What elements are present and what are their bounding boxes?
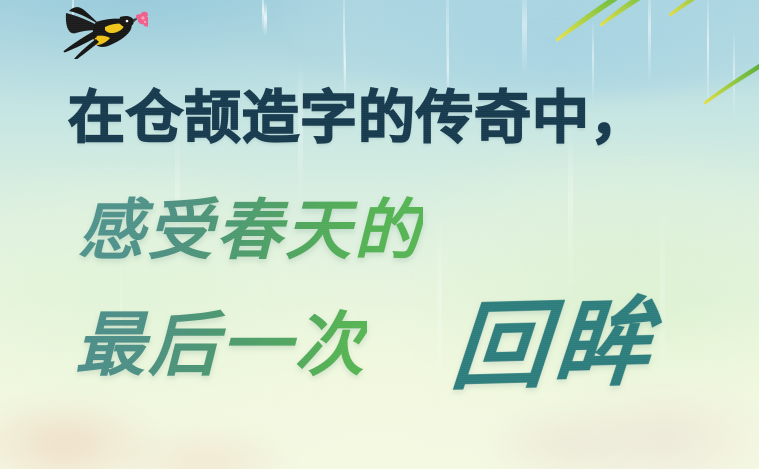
headline-line-3-sans: 最后一次	[75, 305, 367, 385]
headline-line-2: 感受春天的	[78, 192, 423, 268]
headline-block: 在仓颉造字的传奇中， 感受春天的 最后一次 回眸	[0, 0, 759, 469]
headline-line-3-brush: 回眸	[448, 291, 661, 400]
headline-line-1: 在仓颉造字的传奇中，	[68, 85, 648, 151]
poster-canvas: 在仓颉造字的传奇中， 感受春天的 最后一次 回眸	[0, 0, 759, 469]
